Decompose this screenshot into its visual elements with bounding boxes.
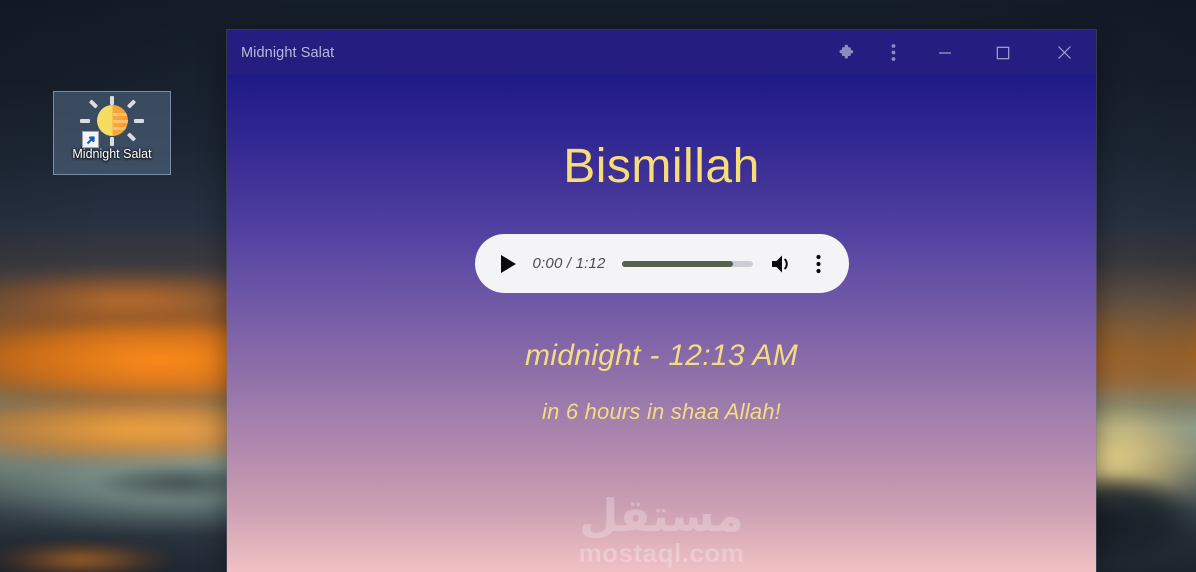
- watermark-domain-text: mostaql.com: [579, 540, 745, 566]
- watermark: مستقل mostaql.com: [227, 493, 1096, 566]
- volume-icon[interactable]: [769, 251, 795, 277]
- player-more-options-kebab-icon[interactable]: [809, 251, 829, 277]
- window-menu-kebab-icon[interactable]: [870, 30, 916, 75]
- minimize-icon[interactable]: [916, 30, 974, 75]
- window-content: Bismillah 0:00 / 1:12: [227, 75, 1096, 572]
- extensions-puzzle-icon[interactable]: [824, 30, 870, 75]
- audio-player[interactable]: 0:00 / 1:12: [475, 234, 849, 293]
- countdown-text: in 6 hours in shaa Allah!: [542, 401, 781, 423]
- sun-disc: [97, 105, 128, 136]
- desktop-icon-label: Midnight Salat: [72, 148, 151, 162]
- window-title-bar[interactable]: Midnight Salat: [227, 30, 1096, 75]
- watermark-arabic-text: مستقل: [579, 493, 744, 538]
- close-icon[interactable]: [1032, 30, 1096, 75]
- desktop: Midnight Salat Midnight Salat: [0, 0, 1196, 572]
- shortcut-arrow-icon: [82, 131, 99, 148]
- page-title: Bismillah: [563, 143, 760, 191]
- maximize-icon[interactable]: [974, 30, 1032, 75]
- midnight-time-text: midnight - 12:13 AM: [525, 341, 798, 371]
- audio-time-display: 0:00 / 1:12: [533, 255, 606, 272]
- audio-progress-fill: [622, 261, 733, 267]
- app-window: Midnight Salat: [227, 30, 1096, 572]
- window-title: Midnight Salat: [241, 45, 334, 61]
- audio-progress-bar[interactable]: [622, 261, 753, 267]
- desktop-icon-midnight-salat[interactable]: Midnight Salat: [53, 91, 171, 175]
- sun-icon: [80, 96, 144, 146]
- play-icon[interactable]: [495, 250, 523, 278]
